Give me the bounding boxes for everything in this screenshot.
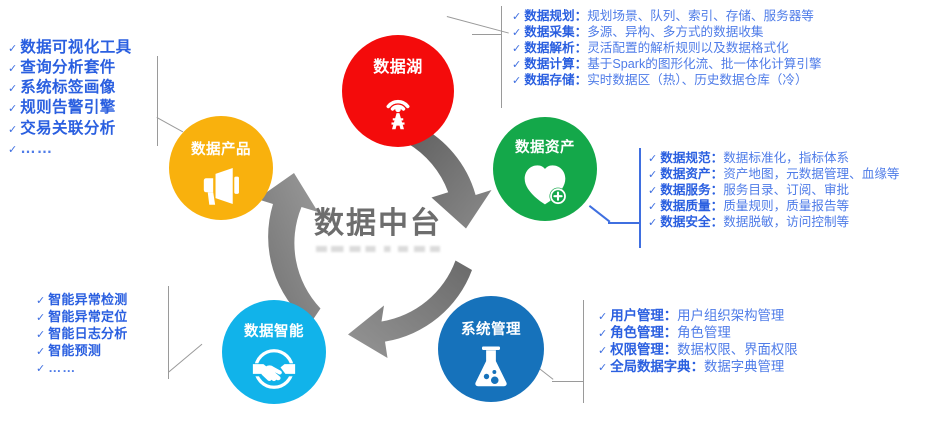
- heart-plus-icon: [519, 160, 571, 208]
- list-item-term: 数据安全: [660, 214, 710, 230]
- list-item-term: 数据资产: [660, 166, 710, 182]
- list-item-description: 多源、异构、多方式的数据收集: [587, 24, 763, 40]
- list-item-description: 质量规则，质量报告等: [723, 198, 849, 214]
- list-item-description: 资产地图，元数据管理、血缘等: [723, 166, 899, 182]
- list-item: ✓权限管理：数据权限、界面权限: [598, 341, 798, 358]
- list-item-term: 规则告警引擎: [20, 98, 115, 118]
- megaphone-icon: [196, 164, 246, 208]
- list-item-term: 查询分析套件: [20, 58, 115, 78]
- list-item: ✓……: [8, 139, 132, 159]
- list-item-description: 用户组织架构管理: [677, 307, 784, 324]
- list-item-ellipsis: ……: [20, 139, 53, 159]
- flask-icon: [467, 342, 515, 390]
- list-item-description: 数据脱敏，访问控制等: [723, 214, 849, 230]
- list-item-term: 数据可视化工具: [20, 38, 131, 58]
- list-item-term: 智能异常定位: [48, 309, 127, 326]
- list-item: ✓智能预测: [36, 343, 127, 360]
- list-item-separator: ：: [575, 8, 588, 24]
- list-item: ✓数据采集：多源、异构、多方式的数据收集: [512, 24, 822, 40]
- list-item-term: 角色管理: [610, 324, 664, 341]
- list-item-description: 灵活配置的解析规则以及数据格式化: [587, 40, 789, 56]
- block-data-assets: ✓数据规范：数据标准化，指标体系✓数据资产：资产地图，元数据管理、血缘等✓数据服…: [648, 150, 900, 231]
- list-item-term: 数据计算: [524, 56, 574, 72]
- list-item-description: 基于Spark的图形化流、批一体化计算引擎: [587, 56, 821, 72]
- connector-products-vertical: [157, 56, 158, 146]
- list-item-term: 数据服务: [660, 182, 710, 198]
- check-icon: ✓: [512, 74, 521, 88]
- list-item: ✓角色管理：角色管理: [598, 324, 798, 341]
- node-data-assets[interactable]: 数据资产: [493, 117, 597, 221]
- list-item: ✓数据安全：数据脱敏，访问控制等: [648, 214, 900, 230]
- list-item-term: 数据存储: [524, 72, 574, 88]
- node-data-intelligence[interactable]: 数据智能: [222, 300, 326, 404]
- list-item: ✓数据可视化工具: [8, 38, 132, 58]
- connector-lake-vertical: [501, 6, 502, 108]
- block-system-management: ✓用户管理：用户组织架构管理✓角色管理：角色管理✓权限管理：数据权限、界面权限✓…: [598, 307, 798, 376]
- block-data-products: ✓数据可视化工具✓查询分析套件✓系统标签画像✓规则告警引擎✓交易关联分析✓……: [8, 38, 132, 159]
- block-data-intelligence: ✓智能异常检测✓智能异常定位✓智能日志分析✓智能预测✓……: [36, 292, 127, 376]
- list-item-separator: ：: [711, 166, 724, 182]
- list-item: ✓数据存储：实时数据区（热）、历史数据仓库（冷）: [512, 72, 822, 88]
- list-item-term: 数据规范: [660, 150, 710, 166]
- list-item: ✓……: [36, 360, 127, 377]
- check-icon: ✓: [648, 200, 657, 214]
- check-icon: ✓: [598, 361, 607, 375]
- list-item-separator: ：: [575, 24, 588, 40]
- check-icon: ✓: [512, 26, 521, 40]
- list-item-separator: ：: [711, 214, 724, 230]
- list-item: ✓智能日志分析: [36, 326, 127, 343]
- node-label-data-intelligence: 数据智能: [222, 320, 326, 341]
- check-icon: ✓: [8, 62, 17, 76]
- list-item: ✓用户管理：用户组织架构管理: [598, 307, 798, 324]
- list-item: ✓规则告警引擎: [8, 98, 132, 118]
- connector-assets-vertical: [639, 148, 641, 248]
- list-item: ✓数据计算：基于Spark的图形化流、批一体化计算引擎: [512, 56, 822, 72]
- list-item: ✓数据资产：资产地图，元数据管理、血缘等: [648, 166, 900, 182]
- connector-system-vertical: [583, 300, 584, 403]
- check-icon: ✓: [598, 327, 607, 341]
- list-item-separator: ：: [711, 150, 724, 166]
- list-item-term: 全局数据字典: [610, 358, 690, 375]
- check-icon: ✓: [512, 10, 521, 24]
- list-item-term: 权限管理: [610, 341, 664, 358]
- check-icon: ✓: [512, 42, 521, 56]
- list-item-term: 智能预测: [48, 343, 101, 360]
- connector-intelligence-diagonal: [168, 344, 202, 373]
- list-item-term: 用户管理: [610, 307, 664, 324]
- list-item-term: 智能日志分析: [48, 326, 127, 343]
- check-icon: ✓: [8, 143, 17, 157]
- connector-products-diagonal: [157, 117, 184, 132]
- check-icon: ✓: [8, 42, 17, 56]
- list-item: ✓数据规划：规划场景、队列、索引、存储、服务器等: [512, 8, 822, 24]
- check-icon: ✓: [648, 184, 657, 198]
- connector-intelligence-vertical: [168, 286, 169, 379]
- broadcast-tower-icon: [371, 79, 425, 133]
- node-data-products[interactable]: 数据产品: [169, 116, 273, 220]
- list-item-term: 数据规划: [524, 8, 574, 24]
- list-item-separator: ：: [575, 56, 588, 72]
- check-icon: ✓: [648, 168, 657, 182]
- list-item: ✓系统标签画像: [8, 78, 132, 98]
- list-item-separator: ：: [691, 358, 704, 375]
- list-item-description: 角色管理: [677, 324, 731, 341]
- check-icon: ✓: [598, 310, 607, 324]
- list-item-description: 数据权限、界面权限: [677, 341, 798, 358]
- check-icon: ✓: [36, 328, 45, 342]
- diagram-canvas: 数据中台 数据湖 数据资产: [0, 0, 931, 428]
- block-data-lake: ✓数据规划：规划场景、队列、索引、存储、服务器等✓数据采集：多源、异构、多方式的…: [512, 8, 822, 89]
- list-item-separator: ：: [664, 341, 677, 358]
- list-item: ✓智能异常检测: [36, 292, 127, 309]
- connector-lake-horizontal: [472, 34, 502, 35]
- connector-lake-diagonal: [447, 16, 509, 34]
- list-item: ✓数据质量：质量规则，质量报告等: [648, 198, 900, 214]
- handshake-circle-icon: [248, 345, 300, 393]
- list-item-description: 服务目录、订阅、审批: [723, 182, 849, 198]
- list-item-separator: ：: [664, 324, 677, 341]
- list-item: ✓数据服务：服务目录、订阅、审批: [648, 182, 900, 198]
- node-label-data-lake: 数据湖: [342, 53, 454, 77]
- check-icon: ✓: [8, 102, 17, 116]
- list-item: ✓数据解析：灵活配置的解析规则以及数据格式化: [512, 40, 822, 56]
- list-item-term: 数据质量: [660, 198, 710, 214]
- check-icon: ✓: [512, 58, 521, 72]
- list-item-description: 实时数据区（热）、历史数据仓库（冷）: [587, 72, 807, 88]
- check-icon: ✓: [8, 82, 17, 96]
- node-label-system-management: 系统管理: [438, 318, 544, 339]
- list-item-term: 智能异常检测: [48, 292, 127, 309]
- node-label-data-products: 数据产品: [169, 138, 273, 159]
- list-item-term: 交易关联分析: [20, 119, 115, 139]
- check-icon: ✓: [36, 345, 45, 359]
- list-item: ✓智能异常定位: [36, 309, 127, 326]
- connector-assets-horizontal: [608, 222, 640, 224]
- check-icon: ✓: [8, 123, 17, 137]
- list-item-ellipsis: ……: [48, 360, 76, 377]
- list-item-description: 规划场景、队列、索引、存储、服务器等: [587, 8, 814, 24]
- check-icon: ✓: [648, 152, 657, 166]
- list-item: ✓交易关联分析: [8, 119, 132, 139]
- connector-system-horizontal: [552, 381, 584, 382]
- list-item: ✓数据规范：数据标准化，指标体系: [648, 150, 900, 166]
- list-item-separator: ：: [711, 198, 724, 214]
- check-icon: ✓: [648, 216, 657, 230]
- connector-assets-diagonal: [589, 205, 610, 222]
- node-system-management[interactable]: 系统管理: [438, 296, 544, 402]
- list-item-separator: ：: [575, 72, 588, 88]
- list-item-term: 数据解析: [524, 40, 574, 56]
- list-item-separator: ：: [575, 40, 588, 56]
- node-label-data-assets: 数据资产: [493, 136, 597, 157]
- check-icon: ✓: [36, 311, 45, 325]
- list-item-term: 数据采集: [524, 24, 574, 40]
- list-item-separator: ：: [711, 182, 724, 198]
- check-icon: ✓: [598, 344, 607, 358]
- list-item: ✓查询分析套件: [8, 58, 132, 78]
- list-item-description: 数据字典管理: [704, 358, 784, 375]
- list-item-description: 数据标准化，指标体系: [723, 150, 849, 166]
- list-item-separator: ：: [664, 307, 677, 324]
- check-icon: ✓: [36, 294, 45, 308]
- node-data-lake[interactable]: 数据湖: [342, 35, 454, 147]
- list-item: ✓全局数据字典：数据字典管理: [598, 358, 798, 375]
- list-item-term: 系统标签画像: [20, 78, 115, 98]
- check-icon: ✓: [36, 362, 45, 376]
